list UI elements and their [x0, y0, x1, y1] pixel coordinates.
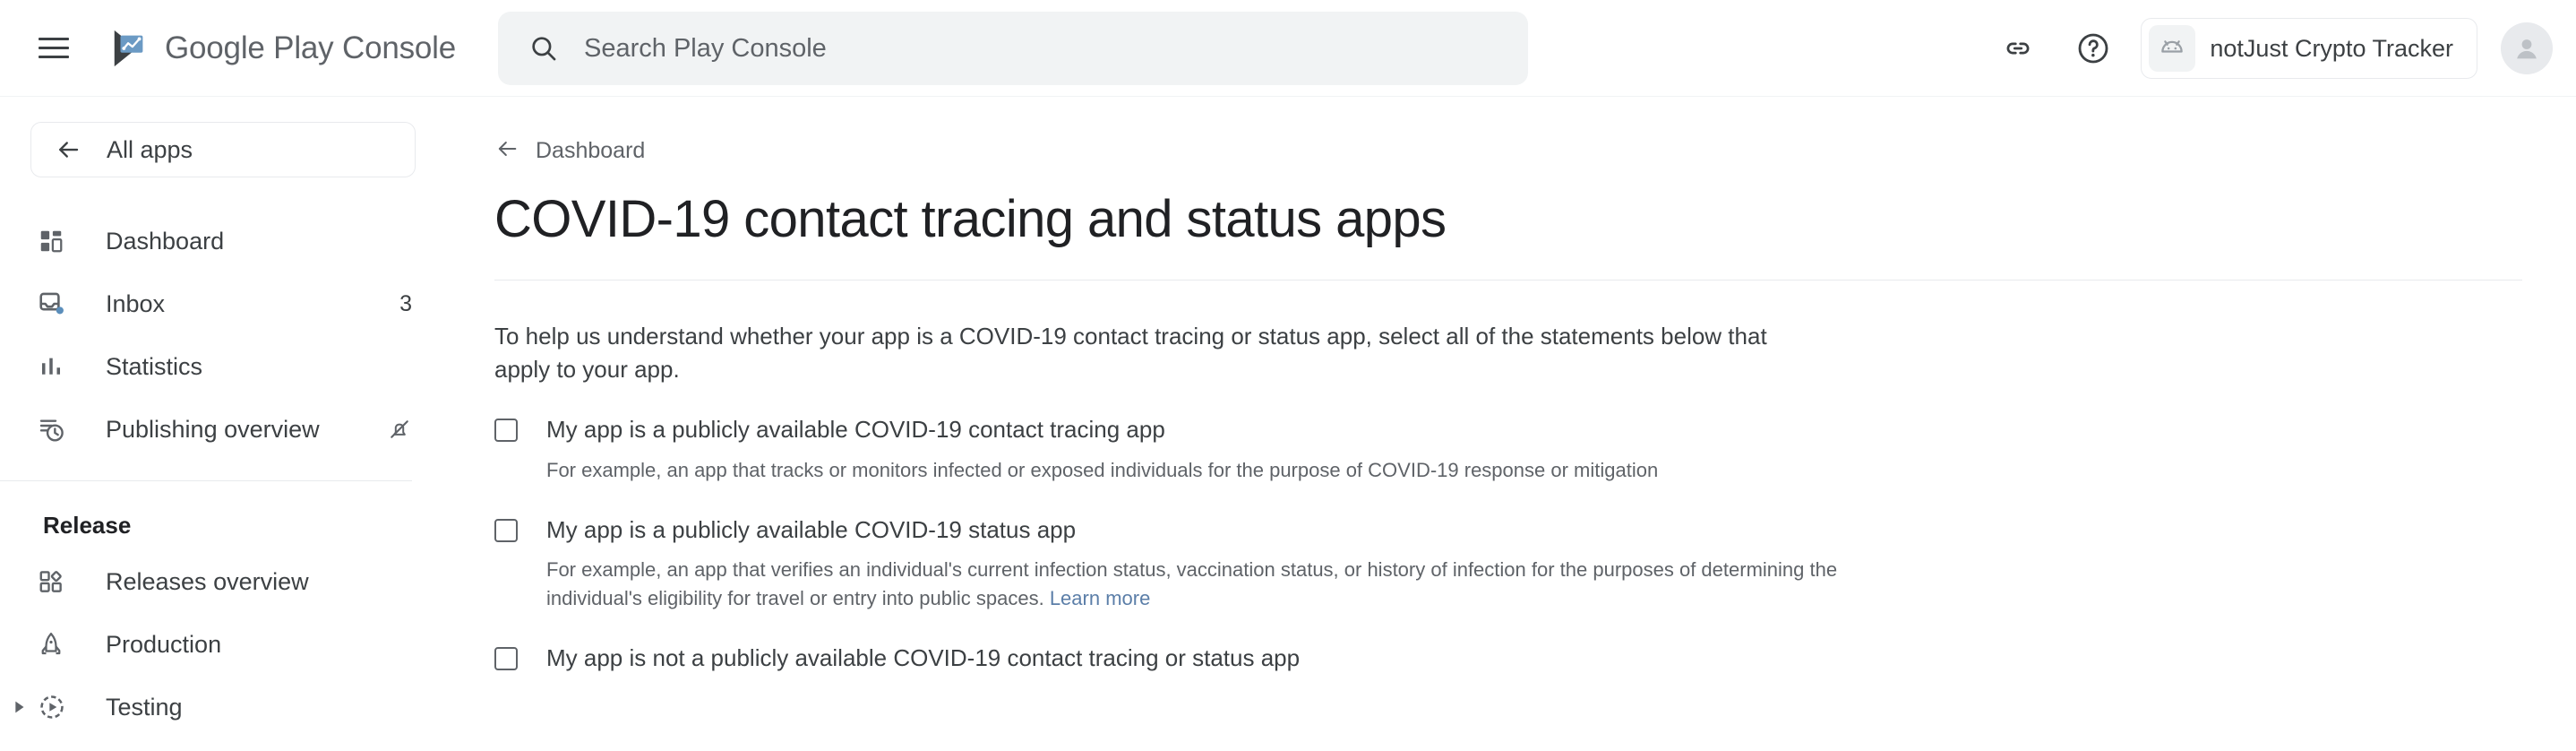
covid-option-label[interactable]: My app is a publicly available COVID-19 … — [546, 515, 1845, 546]
sidebar-item-production[interactable]: Production — [0, 613, 448, 676]
releases-overview-icon — [38, 568, 73, 595]
search-input[interactable] — [584, 34, 1528, 64]
hamburger-bar — [39, 47, 69, 49]
google-play-logo-icon — [109, 28, 150, 69]
sidebar-item-label: Production — [106, 631, 221, 659]
covid-option-row: My app is a publicly available COVID-19 … — [494, 415, 2522, 485]
covid-option-label[interactable]: My app is not a publicly available COVID… — [546, 643, 1300, 674]
covid-option-description-text: For example, an app that verifies an ind… — [546, 558, 1837, 609]
covid-option-row: My app is not a publicly available COVID… — [494, 643, 2522, 674]
main-content: Dashboard COVID-19 contact tracing and s… — [448, 97, 2576, 751]
covid-option-body: My app is a publicly available COVID-19 … — [546, 415, 1658, 485]
sidebar-item-releases-overview[interactable]: Releases overview — [0, 550, 448, 613]
sidebar-item-testing[interactable]: Testing — [0, 676, 448, 738]
page-title: COVID-19 contact tracing and status apps — [494, 189, 2522, 249]
sidebar-section-release: Release — [0, 481, 448, 547]
all-apps-label: All apps — [107, 136, 193, 164]
current-app-chip[interactable]: notJust Crypto Tracker — [2141, 18, 2477, 79]
rocket-icon — [38, 631, 73, 658]
covid-contact-tracing-checkbox[interactable] — [494, 419, 518, 442]
learn-more-link[interactable]: Learn more — [1050, 587, 1151, 609]
covid-option-body: My app is not a publicly available COVID… — [546, 643, 1300, 674]
inbox-count-badge: 3 — [399, 291, 412, 317]
sidebar-navigation: All apps Dashboard Inbo — [0, 97, 448, 751]
sidebar-item-publishing-overview[interactable]: Publishing overview — [0, 398, 448, 461]
covid-option-row: My app is a publicly available COVID-19 … — [494, 515, 2522, 614]
breadcrumb-label: Dashboard — [536, 138, 645, 164]
covid-option-label[interactable]: My app is a publicly available COVID-19 … — [546, 415, 1658, 445]
sidebar-primary-list: Dashboard Inbox 3 Statistics — [0, 210, 448, 461]
covid-status-app-checkbox[interactable] — [494, 519, 518, 542]
link-icon[interactable] — [1990, 21, 2046, 76]
sidebar-release-list: Releases overview Production — [0, 550, 448, 738]
app-bar-actions: notJust Crypto Tracker — [1990, 0, 2553, 97]
bell-off-icon[interactable] — [387, 417, 412, 442]
inbox-icon — [38, 289, 73, 318]
sidebar-item-label: Releases overview — [106, 568, 309, 596]
android-head-icon — [2149, 25, 2195, 72]
sidebar-item-label: Statistics — [106, 353, 202, 381]
all-apps-button[interactable]: All apps — [30, 122, 416, 177]
brand-logo-link[interactable]: Google Play Console — [109, 28, 456, 69]
covid-option-description: For example, an app that verifies an ind… — [546, 556, 1845, 613]
brand-title: Google Play Console — [165, 30, 456, 66]
publishing-clock-icon — [38, 415, 73, 444]
sidebar-item-label: Dashboard — [106, 228, 224, 255]
testing-play-icon — [38, 693, 73, 721]
covid-option-description: For example, an app that tracks or monit… — [546, 456, 1658, 485]
hamburger-bar — [39, 56, 69, 58]
current-app-name: notJust Crypto Tracker — [2210, 35, 2453, 63]
sidebar-item-statistics[interactable]: Statistics — [0, 335, 448, 398]
bar-chart-icon — [38, 353, 73, 380]
not-covid-app-checkbox[interactable] — [494, 647, 518, 670]
breadcrumb[interactable]: Dashboard — [494, 136, 2522, 166]
arrow-left-icon — [494, 136, 519, 166]
dashboard-grid-icon — [38, 228, 73, 255]
sidebar-item-label: Publishing overview — [106, 416, 320, 444]
sidebar-item-label: Testing — [106, 694, 183, 721]
top-app-bar: Google Play Console — [0, 0, 2576, 97]
chevron-right-icon[interactable] — [9, 697, 29, 717]
account-avatar-icon[interactable] — [2501, 22, 2553, 74]
arrow-left-icon — [55, 136, 82, 163]
search-bar[interactable] — [498, 12, 1528, 85]
help-circle-icon[interactable] — [2065, 21, 2121, 76]
intro-paragraph: To help us understand whether your app i… — [494, 320, 1802, 386]
title-divider — [494, 280, 2522, 281]
hamburger-menu-icon[interactable] — [34, 29, 73, 68]
sidebar-item-label: Inbox — [106, 290, 165, 318]
sidebar-item-dashboard[interactable]: Dashboard — [0, 210, 448, 272]
hamburger-bar — [39, 38, 69, 40]
sidebar-item-inbox[interactable]: Inbox 3 — [0, 272, 448, 335]
search-icon — [528, 33, 559, 64]
covid-options-list: My app is a publicly available COVID-19 … — [494, 415, 2522, 674]
covid-option-body: My app is a publicly available COVID-19 … — [546, 515, 1845, 614]
